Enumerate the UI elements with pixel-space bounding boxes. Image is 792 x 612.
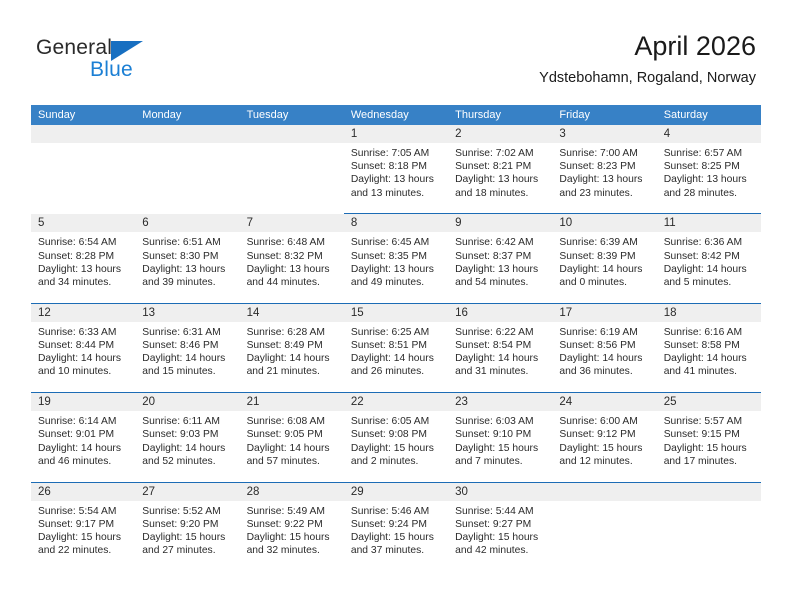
daylight-text-line2: and 54 minutes. <box>455 276 546 289</box>
day-cell-details: Sunrise: 6:54 AMSunset: 8:28 PMDaylight:… <box>31 232 135 289</box>
sunrise-text: Sunrise: 7:02 AM <box>455 147 546 160</box>
calendar-week-row: 1Sunrise: 7:05 AMSunset: 8:18 PMDaylight… <box>31 125 761 214</box>
daylight-text-line2: and 26 minutes. <box>351 365 442 378</box>
day-number: 1 <box>344 125 448 143</box>
sunset-text: Sunset: 8:23 PM <box>559 160 650 173</box>
weekday-header-friday: Friday <box>552 105 656 125</box>
sunset-text: Sunset: 8:42 PM <box>664 250 755 263</box>
daylight-text-line2: and 23 minutes. <box>559 187 650 200</box>
sunset-text: Sunset: 9:01 PM <box>38 428 129 441</box>
day-cell-details: Sunrise: 6:16 AMSunset: 8:58 PMDaylight:… <box>657 322 761 379</box>
sunrise-text: Sunrise: 6:39 AM <box>559 236 650 249</box>
daylight-text-line1: Daylight: 13 hours <box>351 173 442 186</box>
daylight-text-line1: Daylight: 14 hours <box>142 352 233 365</box>
daylight-text-line2: and 46 minutes. <box>38 455 129 468</box>
daylight-text-line2: and 49 minutes. <box>351 276 442 289</box>
day-cell-17[interactable]: 17Sunrise: 6:19 AMSunset: 8:56 PMDayligh… <box>552 304 656 393</box>
day-cell-empty <box>31 125 135 214</box>
daylight-text-line1: Daylight: 13 hours <box>38 263 129 276</box>
sunrise-text: Sunrise: 6:08 AM <box>247 415 338 428</box>
sunrise-text: Sunrise: 6:48 AM <box>247 236 338 249</box>
sunset-text: Sunset: 9:17 PM <box>38 518 129 531</box>
day-cell-details: Sunrise: 6:42 AMSunset: 8:37 PMDaylight:… <box>448 232 552 289</box>
day-number: 25 <box>657 393 761 411</box>
calendar-page: General Blue April 2026 Ydstebohamn, Rog… <box>0 0 792 612</box>
day-cell-28[interactable]: 28Sunrise: 5:49 AMSunset: 9:22 PMDayligh… <box>240 483 344 572</box>
day-number: 18 <box>657 304 761 322</box>
day-cell-29[interactable]: 29Sunrise: 5:46 AMSunset: 9:24 PMDayligh… <box>344 483 448 572</box>
daylight-text-line1: Daylight: 15 hours <box>351 531 442 544</box>
day-cell-26[interactable]: 26Sunrise: 5:54 AMSunset: 9:17 PMDayligh… <box>31 483 135 572</box>
daylight-text-line1: Daylight: 13 hours <box>455 263 546 276</box>
sunset-text: Sunset: 8:28 PM <box>38 250 129 263</box>
location-subtitle: Ydstebohamn, Rogaland, Norway <box>539 70 756 87</box>
sunrise-text: Sunrise: 6:05 AM <box>351 415 442 428</box>
day-number <box>135 125 239 143</box>
daylight-text-line2: and 41 minutes. <box>664 365 755 378</box>
daylight-text-line1: Daylight: 13 hours <box>247 263 338 276</box>
sunrise-text: Sunrise: 6:14 AM <box>38 415 129 428</box>
sunrise-text: Sunrise: 7:05 AM <box>351 147 442 160</box>
daylight-text-line1: Daylight: 14 hours <box>559 352 650 365</box>
day-cell-details: Sunrise: 6:14 AMSunset: 9:01 PMDaylight:… <box>31 411 135 468</box>
sunset-text: Sunset: 9:05 PM <box>247 428 338 441</box>
brand-name-blue: Blue <box>90 58 133 82</box>
sunrise-text: Sunrise: 5:44 AM <box>455 505 546 518</box>
day-number: 3 <box>552 125 656 143</box>
weekday-header-wednesday: Wednesday <box>344 105 448 125</box>
sunrise-text: Sunrise: 6:22 AM <box>455 326 546 339</box>
day-number: 17 <box>552 304 656 322</box>
daylight-text-line2: and 15 minutes. <box>142 365 233 378</box>
day-cell-details: Sunrise: 6:48 AMSunset: 8:32 PMDaylight:… <box>240 232 344 289</box>
sunrise-text: Sunrise: 5:46 AM <box>351 505 442 518</box>
day-number <box>657 483 761 501</box>
day-cell-24[interactable]: 24Sunrise: 6:00 AMSunset: 9:12 PMDayligh… <box>552 393 656 482</box>
day-number: 28 <box>240 483 344 501</box>
day-number: 6 <box>135 214 239 232</box>
calendar-week-row: 12Sunrise: 6:33 AMSunset: 8:44 PMDayligh… <box>31 304 761 393</box>
daylight-text-line1: Daylight: 14 hours <box>38 442 129 455</box>
daylight-text-line2: and 17 minutes. <box>664 455 755 468</box>
day-cell-2[interactable]: 2Sunrise: 7:02 AMSunset: 8:21 PMDaylight… <box>448 125 552 214</box>
sunset-text: Sunset: 8:46 PM <box>142 339 233 352</box>
sunset-text: Sunset: 8:21 PM <box>455 160 546 173</box>
daylight-text-line1: Daylight: 14 hours <box>664 263 755 276</box>
daylight-text-line2: and 13 minutes. <box>351 187 442 200</box>
day-cell-21[interactable]: 21Sunrise: 6:08 AMSunset: 9:05 PMDayligh… <box>240 393 344 482</box>
day-cell-details: Sunrise: 6:57 AMSunset: 8:25 PMDaylight:… <box>657 143 761 200</box>
day-cell-5[interactable]: 5Sunrise: 6:54 AMSunset: 8:28 PMDaylight… <box>31 214 135 303</box>
sunrise-text: Sunrise: 5:52 AM <box>142 505 233 518</box>
daylight-text-line2: and 0 minutes. <box>559 276 650 289</box>
day-number: 14 <box>240 304 344 322</box>
day-cell-details: Sunrise: 6:31 AMSunset: 8:46 PMDaylight:… <box>135 322 239 379</box>
sunrise-text: Sunrise: 6:31 AM <box>142 326 233 339</box>
sunset-text: Sunset: 8:51 PM <box>351 339 442 352</box>
weekday-header-sunday: Sunday <box>31 105 135 125</box>
sunrise-text: Sunrise: 6:45 AM <box>351 236 442 249</box>
day-cell-details: Sunrise: 5:44 AMSunset: 9:27 PMDaylight:… <box>448 501 552 558</box>
daylight-text-line1: Daylight: 13 hours <box>351 263 442 276</box>
sunrise-text: Sunrise: 6:11 AM <box>142 415 233 428</box>
day-cell-details: Sunrise: 6:33 AMSunset: 8:44 PMDaylight:… <box>31 322 135 379</box>
day-cell-20[interactable]: 20Sunrise: 6:11 AMSunset: 9:03 PMDayligh… <box>135 393 239 482</box>
sunset-text: Sunset: 8:39 PM <box>559 250 650 263</box>
weekday-header-tuesday: Tuesday <box>240 105 344 125</box>
day-cell-details: Sunrise: 6:00 AMSunset: 9:12 PMDaylight:… <box>552 411 656 468</box>
day-cell-empty <box>240 125 344 214</box>
calendar-grid: SundayMondayTuesdayWednesdayThursdayFrid… <box>31 105 761 572</box>
daylight-text-line1: Daylight: 14 hours <box>664 352 755 365</box>
sunrise-text: Sunrise: 6:54 AM <box>38 236 129 249</box>
daylight-text-line2: and 52 minutes. <box>142 455 233 468</box>
daylight-text-line1: Daylight: 13 hours <box>559 173 650 186</box>
sunset-text: Sunset: 8:32 PM <box>247 250 338 263</box>
sunrise-text: Sunrise: 6:03 AM <box>455 415 546 428</box>
day-cell-22[interactable]: 22Sunrise: 6:05 AMSunset: 9:08 PMDayligh… <box>344 393 448 482</box>
daylight-text-line1: Daylight: 14 hours <box>247 442 338 455</box>
daylight-text-line1: Daylight: 15 hours <box>455 531 546 544</box>
sunrise-text: Sunrise: 6:33 AM <box>38 326 129 339</box>
sunrise-text: Sunrise: 6:28 AM <box>247 326 338 339</box>
daylight-text-line2: and 32 minutes. <box>247 544 338 557</box>
day-cell-details: Sunrise: 6:36 AMSunset: 8:42 PMDaylight:… <box>657 232 761 289</box>
sunrise-text: Sunrise: 6:00 AM <box>559 415 650 428</box>
sunrise-text: Sunrise: 6:42 AM <box>455 236 546 249</box>
sunset-text: Sunset: 8:30 PM <box>142 250 233 263</box>
day-number: 8 <box>344 214 448 232</box>
daylight-text-line2: and 36 minutes. <box>559 365 650 378</box>
daylight-text-line2: and 18 minutes. <box>455 187 546 200</box>
daylight-text-line2: and 2 minutes. <box>351 455 442 468</box>
day-cell-7[interactable]: 7Sunrise: 6:48 AMSunset: 8:32 PMDaylight… <box>240 214 344 303</box>
daylight-text-line1: Daylight: 15 hours <box>559 442 650 455</box>
sunset-text: Sunset: 9:12 PM <box>559 428 650 441</box>
day-cell-details: Sunrise: 6:39 AMSunset: 8:39 PMDaylight:… <box>552 232 656 289</box>
sunset-text: Sunset: 8:18 PM <box>351 160 442 173</box>
sunset-text: Sunset: 8:25 PM <box>664 160 755 173</box>
day-number: 30 <box>448 483 552 501</box>
day-number: 11 <box>657 214 761 232</box>
daylight-text-line1: Daylight: 14 hours <box>247 352 338 365</box>
sunset-text: Sunset: 9:08 PM <box>351 428 442 441</box>
day-number: 15 <box>344 304 448 322</box>
day-number: 23 <box>448 393 552 411</box>
daylight-text-line2: and 7 minutes. <box>455 455 546 468</box>
day-cell-12[interactable]: 12Sunrise: 6:33 AMSunset: 8:44 PMDayligh… <box>31 304 135 393</box>
daylight-text-line2: and 28 minutes. <box>664 187 755 200</box>
daylight-text-line2: and 34 minutes. <box>38 276 129 289</box>
day-cell-15[interactable]: 15Sunrise: 6:25 AMSunset: 8:51 PMDayligh… <box>344 304 448 393</box>
daylight-text-line2: and 10 minutes. <box>38 365 129 378</box>
daylight-text-line1: Daylight: 13 hours <box>455 173 546 186</box>
day-cell-details: Sunrise: 7:00 AMSunset: 8:23 PMDaylight:… <box>552 143 656 200</box>
day-cell-details: Sunrise: 6:45 AMSunset: 8:35 PMDaylight:… <box>344 232 448 289</box>
day-cell-details: Sunrise: 5:52 AMSunset: 9:20 PMDaylight:… <box>135 501 239 558</box>
day-number: 29 <box>344 483 448 501</box>
sunset-text: Sunset: 8:58 PM <box>664 339 755 352</box>
sunset-text: Sunset: 8:54 PM <box>455 339 546 352</box>
day-cell-11[interactable]: 11Sunrise: 6:36 AMSunset: 8:42 PMDayligh… <box>657 214 761 303</box>
daylight-text-line2: and 5 minutes. <box>664 276 755 289</box>
sunset-text: Sunset: 9:27 PM <box>455 518 546 531</box>
day-cell-18[interactable]: 18Sunrise: 6:16 AMSunset: 8:58 PMDayligh… <box>657 304 761 393</box>
daylight-text-line1: Daylight: 15 hours <box>455 442 546 455</box>
daylight-text-line1: Daylight: 13 hours <box>664 173 755 186</box>
daylight-text-line2: and 12 minutes. <box>559 455 650 468</box>
day-cell-8[interactable]: 8Sunrise: 6:45 AMSunset: 8:35 PMDaylight… <box>344 214 448 303</box>
daylight-text-line2: and 21 minutes. <box>247 365 338 378</box>
day-number: 24 <box>552 393 656 411</box>
day-cell-details: Sunrise: 5:57 AMSunset: 9:15 PMDaylight:… <box>657 411 761 468</box>
daylight-text-line1: Daylight: 15 hours <box>664 442 755 455</box>
day-number: 20 <box>135 393 239 411</box>
sunset-text: Sunset: 9:20 PM <box>142 518 233 531</box>
day-cell-10[interactable]: 10Sunrise: 6:39 AMSunset: 8:39 PMDayligh… <box>552 214 656 303</box>
day-cell-16[interactable]: 16Sunrise: 6:22 AMSunset: 8:54 PMDayligh… <box>448 304 552 393</box>
sunrise-text: Sunrise: 5:57 AM <box>664 415 755 428</box>
daylight-text-line2: and 42 minutes. <box>455 544 546 557</box>
daylight-text-line2: and 57 minutes. <box>247 455 338 468</box>
day-cell-details: Sunrise: 6:28 AMSunset: 8:49 PMDaylight:… <box>240 322 344 379</box>
day-cell-details: Sunrise: 6:11 AMSunset: 9:03 PMDaylight:… <box>135 411 239 468</box>
day-number: 5 <box>31 214 135 232</box>
sunrise-text: Sunrise: 5:54 AM <box>38 505 129 518</box>
day-cell-30[interactable]: 30Sunrise: 5:44 AMSunset: 9:27 PMDayligh… <box>448 483 552 572</box>
sunrise-text: Sunrise: 7:00 AM <box>559 147 650 160</box>
page-title: April 2026 <box>539 30 756 62</box>
day-cell-details: Sunrise: 7:02 AMSunset: 8:21 PMDaylight:… <box>448 143 552 200</box>
daylight-text-line1: Daylight: 14 hours <box>455 352 546 365</box>
daylight-text-line1: Daylight: 13 hours <box>142 263 233 276</box>
daylight-text-line2: and 22 minutes. <box>38 544 129 557</box>
page-header: General Blue April 2026 Ydstebohamn, Rog… <box>0 0 792 100</box>
weekday-header-row: SundayMondayTuesdayWednesdayThursdayFrid… <box>31 105 761 125</box>
brand-name-general: General <box>36 36 112 60</box>
daylight-text-line1: Daylight: 15 hours <box>142 531 233 544</box>
day-cell-6[interactable]: 6Sunrise: 6:51 AMSunset: 8:30 PMDaylight… <box>135 214 239 303</box>
sunset-text: Sunset: 8:49 PM <box>247 339 338 352</box>
sunset-text: Sunset: 9:03 PM <box>142 428 233 441</box>
day-number: 10 <box>552 214 656 232</box>
day-cell-details: Sunrise: 6:51 AMSunset: 8:30 PMDaylight:… <box>135 232 239 289</box>
day-number: 4 <box>657 125 761 143</box>
day-number: 9 <box>448 214 552 232</box>
day-cell-3[interactable]: 3Sunrise: 7:00 AMSunset: 8:23 PMDaylight… <box>552 125 656 214</box>
daylight-text-line2: and 37 minutes. <box>351 544 442 557</box>
day-number <box>240 125 344 143</box>
brand-logo[interactable]: General Blue <box>36 36 166 82</box>
calendar-weeks: 1Sunrise: 7:05 AMSunset: 8:18 PMDaylight… <box>31 125 761 572</box>
calendar-week-row: 26Sunrise: 5:54 AMSunset: 9:17 PMDayligh… <box>31 483 761 572</box>
day-cell-4[interactable]: 4Sunrise: 6:57 AMSunset: 8:25 PMDaylight… <box>657 125 761 214</box>
day-cell-details: Sunrise: 7:05 AMSunset: 8:18 PMDaylight:… <box>344 143 448 200</box>
day-cell-9[interactable]: 9Sunrise: 6:42 AMSunset: 8:37 PMDaylight… <box>448 214 552 303</box>
day-cell-details: Sunrise: 6:22 AMSunset: 8:54 PMDaylight:… <box>448 322 552 379</box>
title-block: April 2026 Ydstebohamn, Rogaland, Norway <box>539 30 756 87</box>
daylight-text-line1: Daylight: 15 hours <box>247 531 338 544</box>
day-number: 19 <box>31 393 135 411</box>
weekday-header-saturday: Saturday <box>657 105 761 125</box>
day-cell-details: Sunrise: 6:19 AMSunset: 8:56 PMDaylight:… <box>552 322 656 379</box>
day-number: 27 <box>135 483 239 501</box>
day-number: 2 <box>448 125 552 143</box>
sunset-text: Sunset: 8:56 PM <box>559 339 650 352</box>
day-cell-13[interactable]: 13Sunrise: 6:31 AMSunset: 8:46 PMDayligh… <box>135 304 239 393</box>
day-number: 21 <box>240 393 344 411</box>
day-number: 13 <box>135 304 239 322</box>
day-number <box>31 125 135 143</box>
daylight-text-line2: and 39 minutes. <box>142 276 233 289</box>
daylight-text-line2: and 27 minutes. <box>142 544 233 557</box>
daylight-text-line1: Daylight: 14 hours <box>351 352 442 365</box>
day-number: 26 <box>31 483 135 501</box>
day-cell-23[interactable]: 23Sunrise: 6:03 AMSunset: 9:10 PMDayligh… <box>448 393 552 482</box>
daylight-text-line1: Daylight: 15 hours <box>351 442 442 455</box>
day-cell-empty <box>552 483 656 572</box>
day-cell-details: Sunrise: 6:25 AMSunset: 8:51 PMDaylight:… <box>344 322 448 379</box>
sunset-text: Sunset: 9:10 PM <box>455 428 546 441</box>
daylight-text-line2: and 44 minutes. <box>247 276 338 289</box>
day-cell-25[interactable]: 25Sunrise: 5:57 AMSunset: 9:15 PMDayligh… <box>657 393 761 482</box>
day-cell-details: Sunrise: 5:54 AMSunset: 9:17 PMDaylight:… <box>31 501 135 558</box>
sunrise-text: Sunrise: 6:36 AM <box>664 236 755 249</box>
sunset-text: Sunset: 8:44 PM <box>38 339 129 352</box>
day-cell-details: Sunrise: 6:05 AMSunset: 9:08 PMDaylight:… <box>344 411 448 468</box>
sunset-text: Sunset: 9:24 PM <box>351 518 442 531</box>
sunrise-text: Sunrise: 6:57 AM <box>664 147 755 160</box>
calendar-week-row: 19Sunrise: 6:14 AMSunset: 9:01 PMDayligh… <box>31 393 761 482</box>
daylight-text-line1: Daylight: 14 hours <box>559 263 650 276</box>
day-number: 7 <box>240 214 344 232</box>
day-cell-1[interactable]: 1Sunrise: 7:05 AMSunset: 8:18 PMDaylight… <box>344 125 448 214</box>
day-number: 12 <box>31 304 135 322</box>
sunrise-text: Sunrise: 6:19 AM <box>559 326 650 339</box>
day-cell-27[interactable]: 27Sunrise: 5:52 AMSunset: 9:20 PMDayligh… <box>135 483 239 572</box>
day-cell-empty <box>657 483 761 572</box>
day-cell-14[interactable]: 14Sunrise: 6:28 AMSunset: 8:49 PMDayligh… <box>240 304 344 393</box>
weekday-header-monday: Monday <box>135 105 239 125</box>
day-cell-details: Sunrise: 5:46 AMSunset: 9:24 PMDaylight:… <box>344 501 448 558</box>
sunrise-text: Sunrise: 5:49 AM <box>247 505 338 518</box>
daylight-text-line1: Daylight: 14 hours <box>142 442 233 455</box>
day-number: 16 <box>448 304 552 322</box>
sunrise-text: Sunrise: 6:51 AM <box>142 236 233 249</box>
daylight-text-line2: and 31 minutes. <box>455 365 546 378</box>
daylight-text-line1: Daylight: 15 hours <box>38 531 129 544</box>
day-number: 22 <box>344 393 448 411</box>
sunset-text: Sunset: 8:35 PM <box>351 250 442 263</box>
day-cell-19[interactable]: 19Sunrise: 6:14 AMSunset: 9:01 PMDayligh… <box>31 393 135 482</box>
daylight-text-line1: Daylight: 14 hours <box>38 352 129 365</box>
sunset-text: Sunset: 9:22 PM <box>247 518 338 531</box>
day-number <box>552 483 656 501</box>
day-cell-details: Sunrise: 6:03 AMSunset: 9:10 PMDaylight:… <box>448 411 552 468</box>
sunset-text: Sunset: 9:15 PM <box>664 428 755 441</box>
sunrise-text: Sunrise: 6:16 AM <box>664 326 755 339</box>
day-cell-details: Sunrise: 5:49 AMSunset: 9:22 PMDaylight:… <box>240 501 344 558</box>
day-cell-empty <box>135 125 239 214</box>
calendar-week-row: 5Sunrise: 6:54 AMSunset: 8:28 PMDaylight… <box>31 214 761 303</box>
sunset-text: Sunset: 8:37 PM <box>455 250 546 263</box>
weekday-header-thursday: Thursday <box>448 105 552 125</box>
sunrise-text: Sunrise: 6:25 AM <box>351 326 442 339</box>
day-cell-details: Sunrise: 6:08 AMSunset: 9:05 PMDaylight:… <box>240 411 344 468</box>
